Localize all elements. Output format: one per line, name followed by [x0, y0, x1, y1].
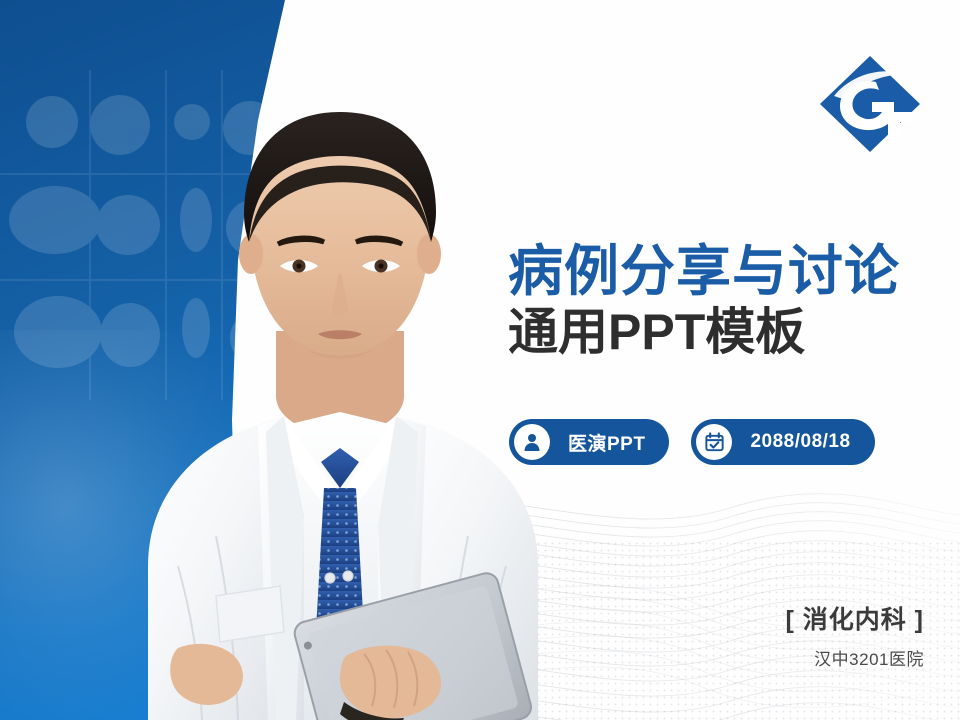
person-icon [514, 424, 550, 460]
title-block: 病例分享与讨论 通用PPT模板 [508, 243, 938, 359]
department-label: [ 消化内科 ] [785, 604, 924, 637]
page-title: 病例分享与讨论 [508, 243, 938, 299]
doctor-photo [108, 96, 578, 720]
gy-diamond-logo [816, 52, 924, 156]
hospital-label: 汉中3201医院 [785, 645, 924, 670]
page-subtitle: 通用PPT模板 [508, 305, 938, 359]
footer-block: [ 消化内科 ] 汉中3201医院 [785, 604, 924, 670]
meta-pill-row: 医演PPT 2088/08/18 [509, 419, 875, 465]
calendar-check-icon [696, 424, 732, 460]
date-label: 2088/08/18 [750, 431, 850, 453]
author-label: 医演PPT [568, 429, 645, 456]
presentation-cover-slide: 病例分享与讨论 通用PPT模板 医演PPT 2088/ [0, 0, 960, 720]
author-badge[interactable]: 医演PPT [509, 419, 669, 465]
date-badge[interactable]: 2088/08/18 [691, 419, 874, 465]
